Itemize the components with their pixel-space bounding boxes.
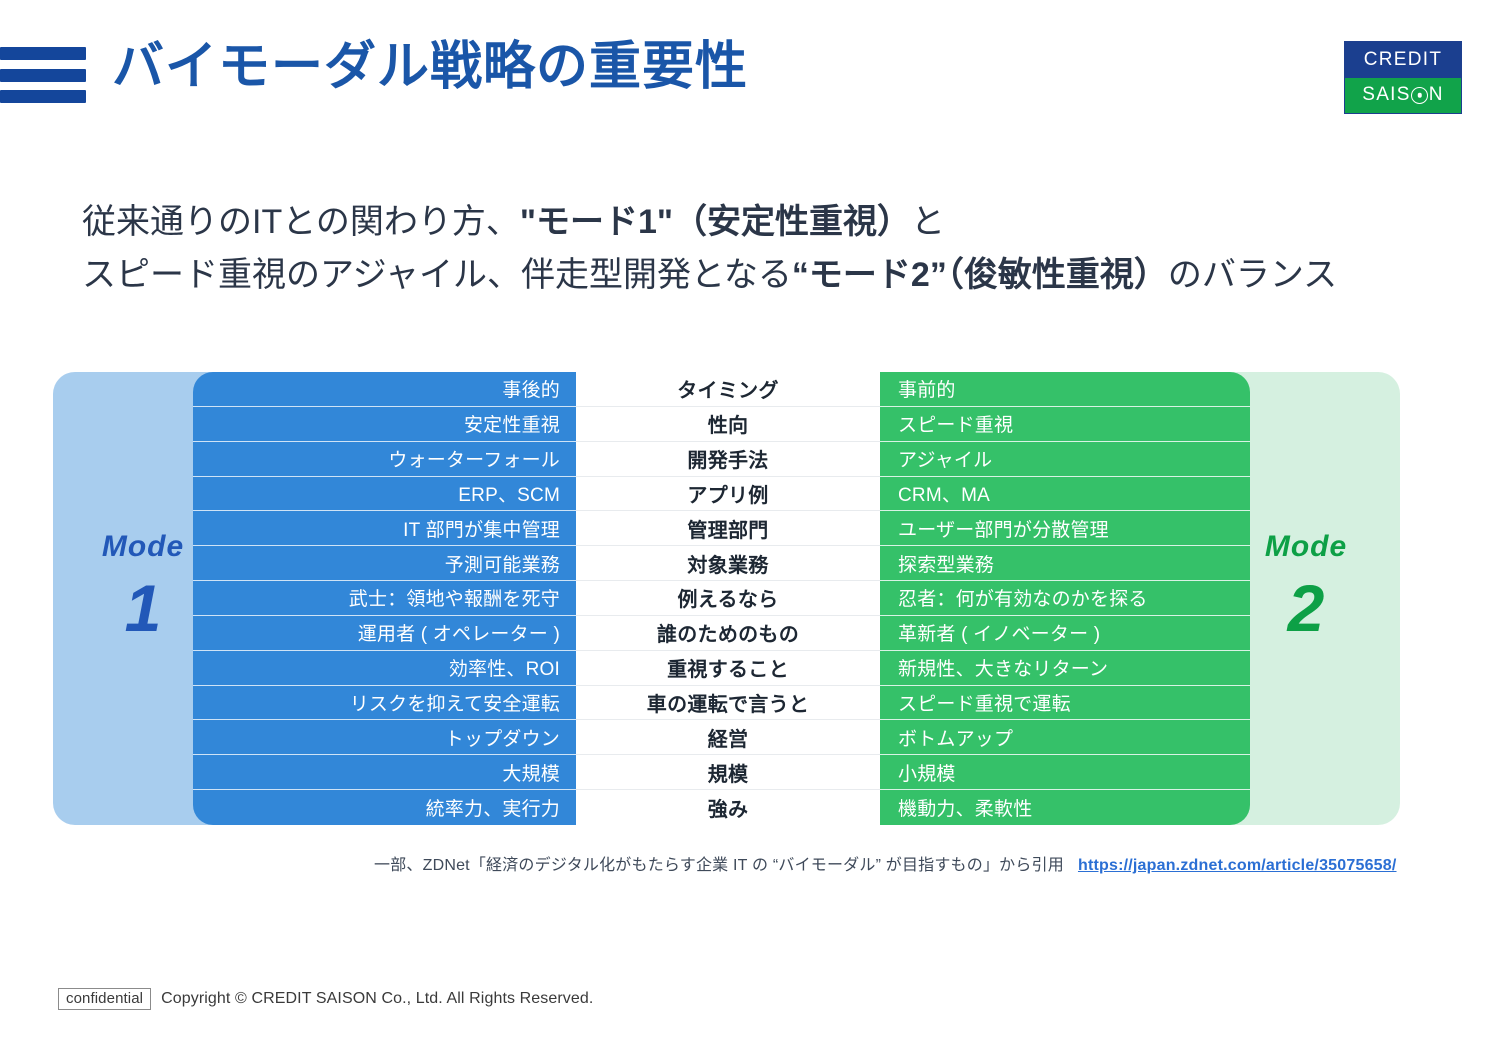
table-row: トップダウン 経営 ボトムアップ: [53, 720, 1400, 755]
table-row: 運用者 ( オペレーター ) 誰のためのもの 革新者 ( イノベーター ): [53, 616, 1400, 651]
confidential-badge: confidential: [58, 988, 151, 1010]
row-spacer-right: [1250, 581, 1400, 616]
mode1-cell: トップダウン: [193, 720, 576, 755]
attribute-cell: 例えるなら: [576, 581, 880, 616]
mode2-cell: ボトムアップ: [880, 720, 1250, 755]
mode2-cell: 探索型業務: [880, 546, 1250, 581]
source-url-link[interactable]: https://japan.zdnet.com/article/35075658…: [1078, 857, 1397, 874]
mode1-cell: 効率性、ROI: [193, 651, 576, 686]
row-spacer-right: [1250, 511, 1400, 546]
table-row: ERP、SCM アプリ例 CRM、MA: [53, 477, 1400, 512]
page-title: バイモーダル戦略の重要性: [112, 36, 748, 98]
row-spacer-left: [53, 651, 193, 686]
logo-bottom-band: SAIS N: [1345, 78, 1461, 114]
lead-line2-emphasis: “モード2”（俊敏性重視）: [792, 256, 1168, 294]
copyright-text: Copyright © CREDIT SAISON Co., Ltd. All …: [161, 990, 593, 1008]
mode1-cell: 事後的: [193, 372, 576, 407]
table-row: 予測可能業務 対象業務 探索型業務: [53, 546, 1400, 581]
attribute-cell: 対象業務: [576, 546, 880, 581]
row-spacer-left: [53, 511, 193, 546]
row-spacer-left: [53, 581, 193, 616]
row-spacer-right: [1250, 790, 1400, 825]
mode1-cell: 安定性重視: [193, 407, 576, 442]
mode2-cell: スピード重視で運転: [880, 686, 1250, 721]
hamburger-bar: [0, 69, 86, 82]
row-spacer-right: [1250, 372, 1400, 407]
lead-line2-part-c: のバランス: [1168, 256, 1337, 294]
attribute-cell: アプリ例: [576, 477, 880, 512]
attribute-cell: 性向: [576, 407, 880, 442]
row-spacer-right: [1250, 546, 1400, 581]
row-spacer-right: [1250, 616, 1400, 651]
attribute-cell: 重視すること: [576, 651, 880, 686]
row-spacer-left: [53, 477, 193, 512]
slide-footer: confidential Copyright © CREDIT SAISON C…: [58, 988, 593, 1010]
mode1-cell: ウォーターフォール: [193, 442, 576, 477]
lead-line1-emphasis: "モード1"（安定性重視）: [520, 203, 911, 241]
row-spacer-left: [53, 407, 193, 442]
mode2-cell: 忍者：何が有効なのかを探る: [880, 581, 1250, 616]
attribute-cell: 強み: [576, 790, 880, 825]
row-spacer-right: [1250, 755, 1400, 790]
source-footnote: 一部、ZDNet「経済のデジタル化がもたらす企業 IT の “バイモーダル” が…: [374, 851, 1397, 875]
lead-line-1: 従来通りのITとの関わり方、"モード1"（安定性重視）と: [82, 196, 1337, 249]
attribute-cell: タイミング: [576, 372, 880, 407]
row-spacer-left: [53, 546, 193, 581]
hamburger-icon[interactable]: [0, 47, 86, 103]
attribute-cell: 車の運転で言うと: [576, 686, 880, 721]
mode2-cell: アジャイル: [880, 442, 1250, 477]
logo-saison-suffix: N: [1429, 84, 1444, 106]
row-spacer-left: [53, 755, 193, 790]
saison-o-icon: [1411, 87, 1428, 104]
mode2-cell: 事前的: [880, 372, 1250, 407]
attribute-cell: 開発手法: [576, 442, 880, 477]
lead-paragraph: 従来通りのITとの関わり方、"モード1"（安定性重視）と スピード重視のアジャイ…: [82, 196, 1337, 301]
attribute-cell: 規模: [576, 755, 880, 790]
row-spacer-right: [1250, 651, 1400, 686]
row-spacer-right: [1250, 686, 1400, 721]
hamburger-bar: [0, 47, 86, 60]
source-text: 一部、ZDNet「経済のデジタル化がもたらす企業 IT の “バイモーダル” が…: [374, 857, 1064, 874]
table-row: 効率性、ROI 重視すること 新規性、大きなリターン: [53, 651, 1400, 686]
row-spacer-left: [53, 790, 193, 825]
bimodal-comparison-table: Mode 1 Mode 2 事後的 タイミング 事前的 安定性重視 性向 スピー…: [53, 372, 1400, 825]
mode1-cell: 運用者 ( オペレーター ): [193, 616, 576, 651]
table-row: IT 部門が集中管理 管理部門 ユーザー部門が分散管理: [53, 511, 1400, 546]
row-spacer-left: [53, 372, 193, 407]
mode2-cell: CRM、MA: [880, 477, 1250, 512]
row-spacer-right: [1250, 720, 1400, 755]
table-row: リスクを抑えて安全運転 車の運転で言うと スピード重視で運転: [53, 686, 1400, 721]
table-row: 統率力、実行力 強み 機動力、柔軟性: [53, 790, 1400, 825]
lead-line-2: スピード重視のアジャイル、伴走型開発となる“モード2”（俊敏性重視）のバランス: [82, 249, 1337, 302]
mode1-cell: 大規模: [193, 755, 576, 790]
mode2-cell: 新規性、大きなリターン: [880, 651, 1250, 686]
logo-saison-prefix: SAIS: [1362, 84, 1411, 106]
mode1-cell: IT 部門が集中管理: [193, 511, 576, 546]
hamburger-bar: [0, 90, 86, 103]
comparison-rows: 事後的 タイミング 事前的 安定性重視 性向 スピード重視 ウォーターフォール …: [53, 372, 1400, 825]
logo-saison-text: SAIS N: [1362, 84, 1444, 106]
table-row: ウォーターフォール 開発手法 アジャイル: [53, 442, 1400, 477]
lead-line1-part-c: と: [911, 203, 945, 241]
mode1-cell: 武士：領地や報酬を死守: [193, 581, 576, 616]
mode2-cell: ユーザー部門が分散管理: [880, 511, 1250, 546]
table-row: 事後的 タイミング 事前的: [53, 372, 1400, 407]
mode1-cell: ERP、SCM: [193, 477, 576, 512]
row-spacer-left: [53, 616, 193, 651]
mode1-cell: 予測可能業務: [193, 546, 576, 581]
attribute-cell: 経営: [576, 720, 880, 755]
row-spacer-right: [1250, 407, 1400, 442]
attribute-cell: 管理部門: [576, 511, 880, 546]
mode2-cell: 小規模: [880, 755, 1250, 790]
table-row: 安定性重視 性向 スピード重視: [53, 407, 1400, 442]
table-row: 大規模 規模 小規模: [53, 755, 1400, 790]
row-spacer-right: [1250, 477, 1400, 512]
lead-line2-part-a: スピード重視のアジャイル、伴走型開発となる: [82, 256, 792, 294]
attribute-cell: 誰のためのもの: [576, 616, 880, 651]
row-spacer-left: [53, 686, 193, 721]
logo-credit-text: CREDIT: [1364, 49, 1443, 71]
row-spacer-right: [1250, 442, 1400, 477]
lead-line1-part-a: 従来通りのITとの関わり方、: [82, 203, 520, 241]
mode1-cell: 統率力、実行力: [193, 790, 576, 825]
mode2-cell: 革新者 ( イノベーター ): [880, 616, 1250, 651]
credit-saison-logo: CREDIT SAIS N: [1344, 41, 1462, 114]
table-row: 武士：領地や報酬を死守 例えるなら 忍者：何が有効なのかを探る: [53, 581, 1400, 616]
row-spacer-left: [53, 720, 193, 755]
mode2-cell: 機動力、柔軟性: [880, 790, 1250, 825]
mode2-cell: スピード重視: [880, 407, 1250, 442]
row-spacer-left: [53, 442, 193, 477]
logo-top-band: CREDIT: [1345, 42, 1461, 78]
mode1-cell: リスクを抑えて安全運転: [193, 686, 576, 721]
